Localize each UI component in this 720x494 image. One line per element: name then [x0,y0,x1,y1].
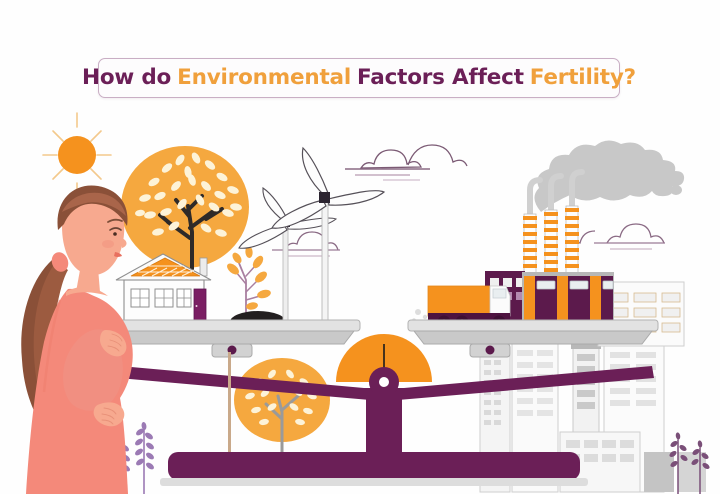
title-segment-2: Environmental [177,65,351,90]
page-title: How doEnvironmentalFactors AffectFertili… [82,67,636,89]
scale-base [168,452,580,480]
title-segment-1: How do [82,65,171,90]
pan-support-post [228,352,231,452]
scale-column [366,392,402,462]
title-segment-4: Fertility? [530,65,636,90]
title-segment-3: Factors Affect [357,65,524,90]
page-title-banner: How doEnvironmentalFactors AffectFertili… [98,58,620,98]
illustration-canvas: How doEnvironmentalFactors AffectFertili… [0,0,720,494]
